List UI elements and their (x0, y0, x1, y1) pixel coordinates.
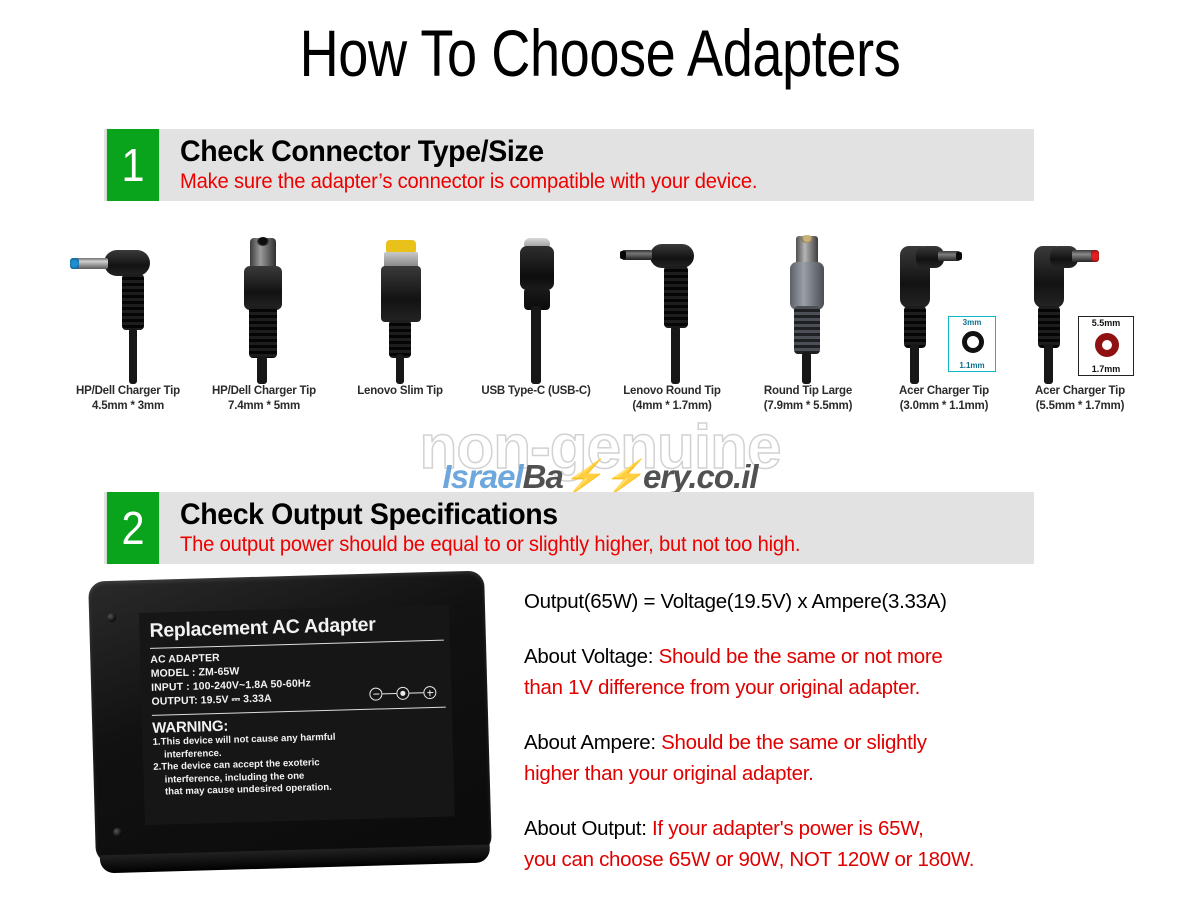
output-row: About Output: If your adapter's power is… (524, 813, 1084, 875)
connector-item-lenovo-round: Lenovo Round Tip (4mm * 1.7mm) (604, 232, 740, 447)
ampere-value-1: Should be the same or slightly (661, 731, 927, 754)
size-callout: 3mm 1.1mm (948, 316, 996, 372)
round-tip-large-icon (740, 232, 876, 384)
connector-label: Round Tip Large (764, 384, 852, 399)
connector-item-acer-55: 5.5mm 1.7mm Acer Charger Tip (5.5mm * 1.… (1012, 232, 1148, 447)
formula-row: Output(65W) = Voltage(19.5V) x Ampere(3.… (524, 586, 1084, 617)
step-2-subtitle: The output power should be equal to or s… (180, 532, 1000, 558)
connector-item-lenovo-slim: Lenovo Slim Tip (332, 232, 468, 447)
connector-tips-row: HP/Dell Charger Tip 4.5mm * 3mm HP/Dell … (60, 232, 1150, 447)
ampere-value-2: higher than your original adapter. (524, 758, 1084, 789)
connector-size: (7.9mm * 5.5mm) (764, 399, 852, 414)
acer-large-tip-icon: 5.5mm 1.7mm (1012, 232, 1148, 384)
warning-list: 1.This device will not cause any harmful… (143, 728, 455, 800)
adapter-label-panel: Replacement AC Adapter AC ADAPTER MODEL … (139, 605, 455, 826)
connector-label: Acer Charger Tip (1035, 384, 1125, 399)
lenovo-round-tip-icon (604, 232, 740, 384)
step-1-header: 1 Check Connector Type/Size Make sure th… (104, 129, 1034, 201)
connector-item-acer-30: 3mm 1.1mm Acer Charger Tip (3.0mm * 1.1m… (876, 232, 1012, 447)
output-formula: Output(65W) = Voltage(19.5V) x Ampere(3.… (524, 586, 1084, 617)
connector-size: 4.5mm * 3mm (92, 399, 164, 414)
voltage-line-1: About Voltage: Should be the same or not… (524, 641, 1084, 672)
connector-item-usb-c: USB Type-C (USB-C) (468, 232, 604, 447)
usb-c-connector-icon (468, 232, 604, 384)
step-1-number-badge: 1 (107, 129, 159, 201)
voltage-row: About Voltage: Should be the same or not… (524, 641, 1084, 703)
output-line-1: About Output: If your adapter's power is… (524, 813, 1084, 844)
page-title: How To Choose Adapters (108, 10, 1092, 96)
connector-label: Lenovo Slim Tip (357, 384, 443, 399)
adapter-spec-block: AC ADAPTER MODEL : ZM-65W INPUT : 100-24… (140, 645, 451, 710)
hp-large-barrel-tip-icon (196, 232, 332, 384)
step-1-text-group: Check Connector Type/Size Make sure the … (162, 129, 1034, 201)
output-specifications-text: Output(65W) = Voltage(19.5V) x Ampere(3.… (524, 586, 1084, 899)
size-callout: 5.5mm 1.7mm (1078, 316, 1134, 376)
step-1-subtitle: Make sure the adapter’s connector is com… (180, 169, 1000, 195)
connector-size: (5.5mm * 1.7mm) (1036, 399, 1124, 414)
lightning-bolt-icon: ⚡⚡ (563, 458, 643, 495)
connector-label: HP/Dell Charger Tip (212, 384, 316, 399)
output-label: About Output: (524, 817, 647, 840)
output-value-2: you can choose 65W or 90W, NOT 120W or 1… (524, 844, 1084, 875)
connector-size: (4mm * 1.7mm) (632, 399, 711, 414)
logo-part-ery: ery (643, 458, 688, 495)
connector-label: Lenovo Round Tip (623, 384, 721, 399)
voltage-value-2: than 1V difference from your original ad… (524, 672, 1084, 703)
connector-label: USB Type-C (USB-C) (481, 384, 590, 399)
step-2-text-group: Check Output Specifications The output p… (162, 492, 1034, 564)
infographic-page: How To Choose Adapters 1 Check Connector… (0, 0, 1200, 900)
hp-blue-tip-icon (60, 232, 196, 384)
connector-label: Acer Charger Tip (899, 384, 989, 399)
callout-outer-dim: 5.5mm (1079, 318, 1133, 328)
polarity-symbol-icon (369, 685, 441, 703)
lenovo-slim-tip-icon (332, 232, 468, 384)
ampere-line-1: About Ampere: Should be the same or slig… (524, 727, 1084, 758)
acer-small-tip-icon: 3mm 1.1mm (876, 232, 1012, 384)
ampere-row: About Ampere: Should be the same or slig… (524, 727, 1084, 789)
output-value-1: If your adapter's power is 65W, (652, 817, 924, 840)
step-2-header: 2 Check Output Specifications The output… (104, 492, 1034, 564)
logo-part-domain: .co.il (688, 458, 757, 495)
connector-item-hp-74: HP/Dell Charger Tip 7.4mm * 5mm (196, 232, 332, 447)
callout-outer-dim: 3mm (949, 318, 995, 327)
ampere-label: About Ampere: (524, 731, 656, 754)
connector-item-hp-45: HP/Dell Charger Tip 4.5mm * 3mm (60, 232, 196, 447)
callout-inner-dim: 1.7mm (1079, 364, 1133, 374)
step-2-number-badge: 2 (107, 492, 159, 564)
connector-size: (3.0mm * 1.1mm) (900, 399, 988, 414)
logo-part-israel: Israel (442, 458, 522, 495)
callout-inner-dim: 1.1mm (949, 361, 995, 370)
voltage-value-1: Should be the same or not more (659, 645, 943, 668)
step-1-title: Check Connector Type/Size (180, 135, 991, 169)
logo-part-ba: Ba (523, 458, 563, 495)
voltage-label: About Voltage: (524, 645, 653, 668)
connector-size: 7.4mm * 5mm (228, 399, 300, 414)
connector-item-round-large: Round Tip Large (7.9mm * 5.5mm) (740, 232, 876, 447)
step-2-title: Check Output Specifications (180, 498, 991, 532)
connector-label: HP/Dell Charger Tip (76, 384, 180, 399)
ac-adapter-illustration: Replacement AC Adapter AC ADAPTER MODEL … (88, 571, 492, 864)
